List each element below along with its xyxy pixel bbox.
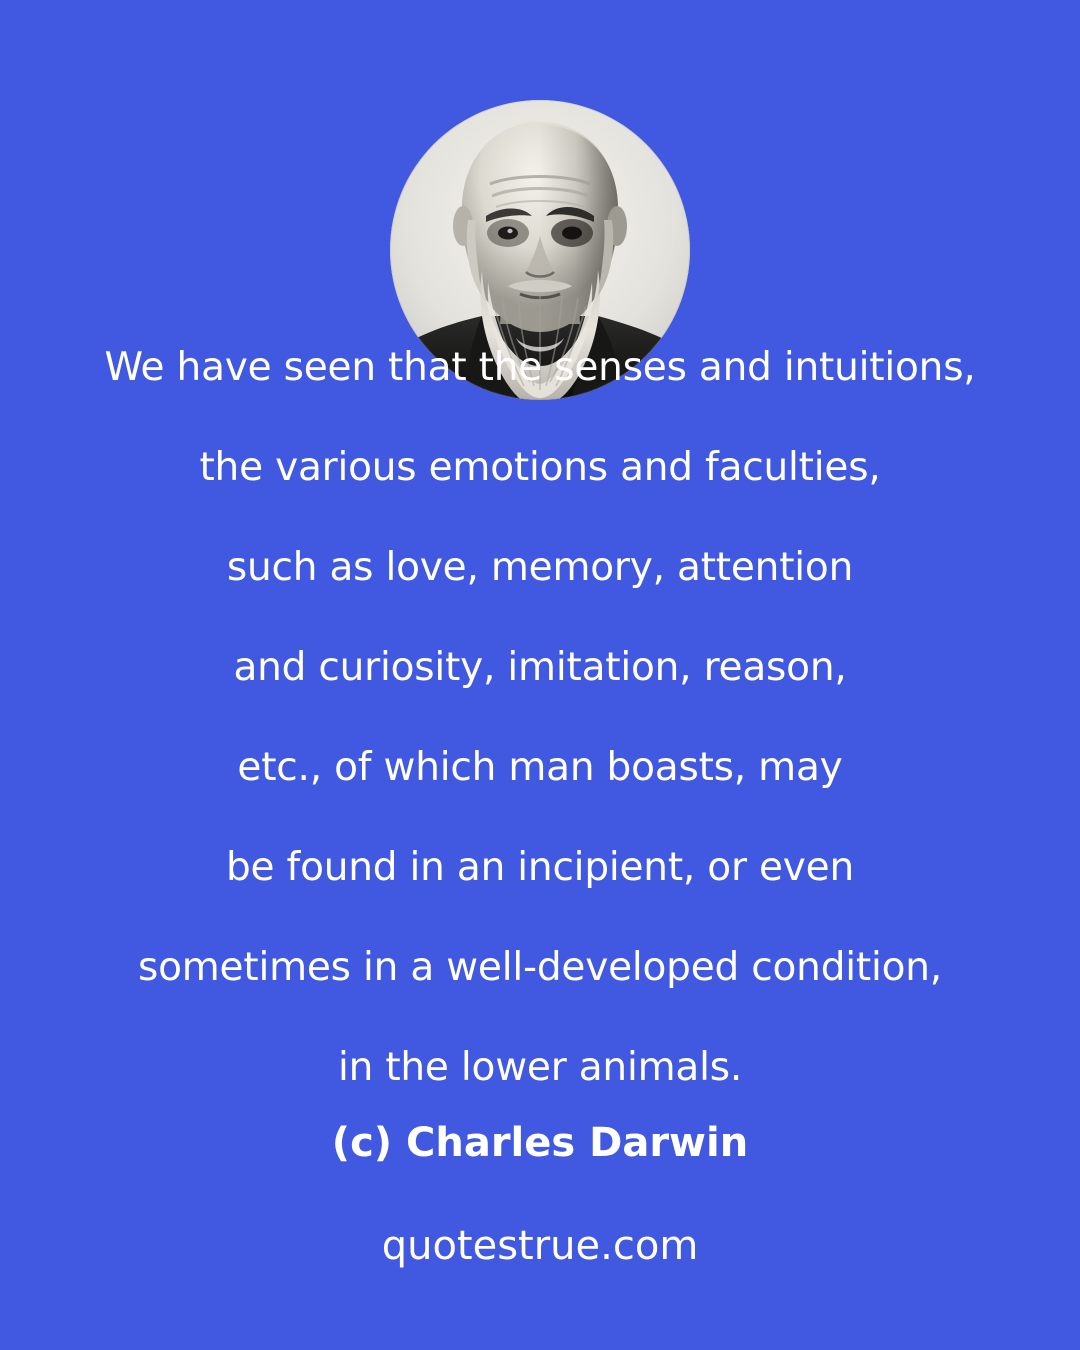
site-watermark: quotestrue.com: [0, 1215, 1080, 1277]
quote-attribution: (c) Charles Darwin: [0, 1112, 1080, 1174]
quote-line: in the lower animals.: [0, 1018, 1080, 1118]
quote-card: We have seen that the senses and intuiti…: [0, 0, 1080, 1350]
quote-line: the various emotions and faculties,: [0, 418, 1080, 518]
quote-line: etc., of which man boasts, may: [0, 718, 1080, 818]
quote-line: sometimes in a well-developed condition,: [0, 918, 1080, 1018]
quote-line: such as love, memory, attention: [0, 518, 1080, 618]
quote-line: be found in an incipient, or even: [0, 818, 1080, 918]
quote-line: We have seen that the senses and intuiti…: [0, 318, 1080, 418]
quote-text: We have seen that the senses and intuiti…: [0, 318, 1080, 1118]
quote-line: and curiosity, imitation, reason,: [0, 618, 1080, 718]
